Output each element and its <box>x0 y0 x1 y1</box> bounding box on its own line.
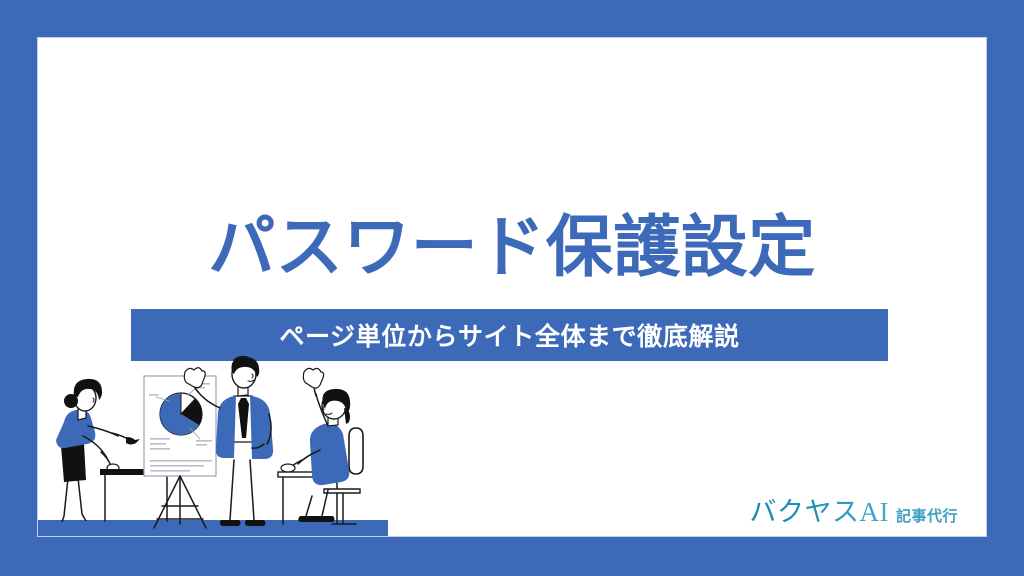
illustration-figure-woman <box>56 379 140 527</box>
page-title: パスワード保護設定 <box>38 207 986 289</box>
subtitle-text: ページ単位からサイト全体まで徹底解説 <box>279 317 739 353</box>
subtitle-band: ページ単位からサイト全体まで徹底解説 <box>131 309 888 361</box>
slide-inner-panel: パスワード保護設定 ページ単位からサイト全体まで徹底解説 バクヤスAI 記事代行… <box>37 37 987 537</box>
brand-logo-name: バクヤスAI <box>749 490 889 529</box>
brand-logo: バクヤスAI 記事代行 <box>749 490 958 529</box>
poster-pie-chart <box>160 393 202 435</box>
slide-canvas: パスワード保護設定 ページ単位からサイト全体まで徹底解説 バクヤスAI 記事代行… <box>0 0 1024 576</box>
illustration-figure-seated <box>281 368 363 524</box>
illustration-business-team: .ln { fill:none; stroke:#1a1a1a; stroke-… <box>38 356 388 536</box>
brand-logo-tagline: 記事代行 <box>896 505 958 526</box>
illustration-svg: .ln { fill:none; stroke:#1a1a1a; stroke-… <box>38 356 388 536</box>
